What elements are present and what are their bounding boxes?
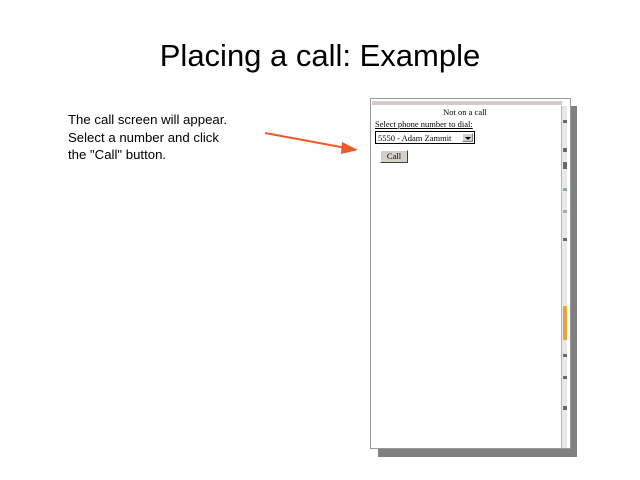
scrollbar-mark	[563, 406, 567, 410]
scrollbar-thumb[interactable]	[563, 306, 567, 340]
vertical-scrollbar[interactable]	[561, 106, 567, 448]
embedded-app-screenshot: Not on a call Select phone number to dia…	[370, 98, 572, 450]
dial-number-label: Select phone number to dial:	[375, 119, 473, 129]
call-screen-window: Not on a call Select phone number to dia…	[370, 98, 571, 449]
phone-number-select[interactable]: 5550 - Adam Zammit	[375, 131, 475, 144]
call-button[interactable]: Call	[380, 150, 408, 163]
scrollbar-mark	[563, 120, 567, 123]
slide-canvas: Placing a call: Example The call screen …	[0, 0, 640, 480]
window-toolbar-strip	[372, 101, 562, 105]
scrollbar-mark	[563, 162, 567, 169]
body-text-line-3: the "Call" button.	[68, 146, 268, 164]
scrollbar-mark	[563, 188, 567, 191]
scrollbar-mark	[563, 238, 567, 241]
body-text-block: The call screen will appear. Select a nu…	[68, 111, 268, 164]
body-text-line-1: The call screen will appear.	[68, 111, 268, 129]
body-text-line-2: Select a number and click	[68, 129, 268, 147]
pointer-arrow-icon	[258, 122, 366, 158]
scrollbar-mark	[563, 376, 567, 379]
scrollbar-mark	[563, 354, 567, 357]
page-title: Placing a call: Example	[0, 38, 640, 74]
scrollbar-mark	[563, 148, 567, 152]
phone-number-select-value: 5550 - Adam Zammit	[378, 133, 451, 143]
call-status-text: Not on a call	[372, 107, 558, 117]
chevron-down-icon[interactable]	[462, 133, 473, 142]
call-screen-client-area: Not on a call Select phone number to dia…	[372, 106, 560, 448]
scrollbar-mark	[563, 210, 567, 213]
